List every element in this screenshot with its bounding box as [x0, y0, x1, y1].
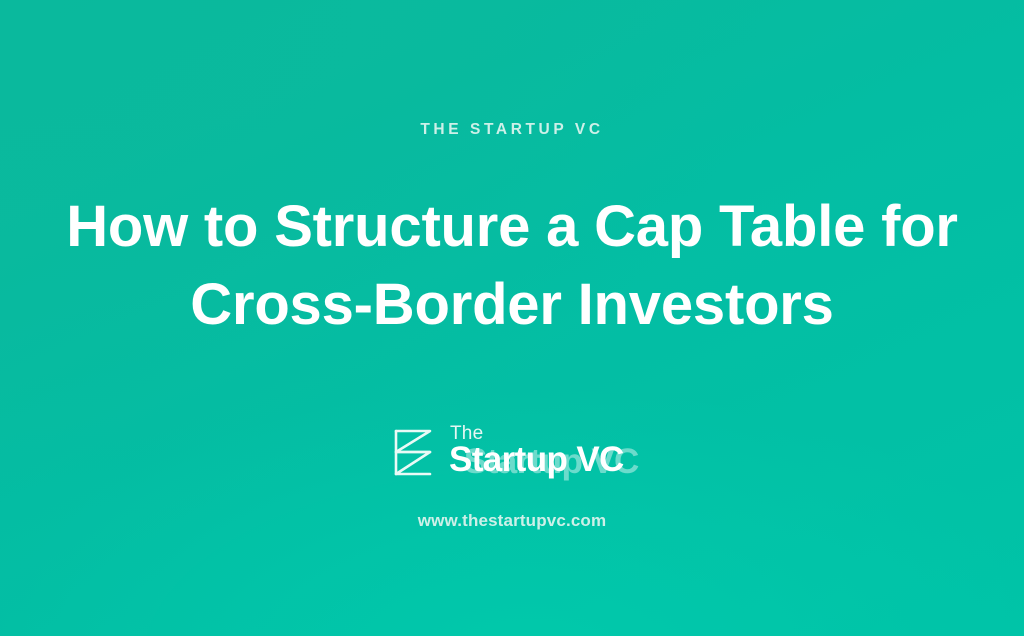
brand-logo-lockup: The StartupVC StartupVC — [0, 424, 1024, 482]
hourglass-bowtie-logo-mark — [390, 428, 436, 478]
wordmark-vc: VC — [576, 440, 623, 479]
card-content: THE STARTUP VC How to Structure a Cap Ta… — [0, 0, 1024, 636]
page-title-line-2: Cross-Border Investors — [36, 266, 988, 344]
brand-wordmark: The StartupVC StartupVC — [449, 424, 634, 482]
blog-title-card: THE STARTUP VC How to Structure a Cap Ta… — [0, 0, 1024, 636]
brand-eyebrow: THE STARTUP VC — [0, 121, 1024, 139]
site-url: www.thestartupvc.com — [0, 511, 1024, 531]
wordmark-main-layer: StartupVC — [449, 439, 624, 480]
page-title-line-1: How to Structure a Cap Table for — [36, 188, 988, 266]
page-title: How to Structure a Cap Table for Cross-B… — [0, 188, 1024, 345]
wordmark-startup: Startup — [449, 440, 567, 479]
